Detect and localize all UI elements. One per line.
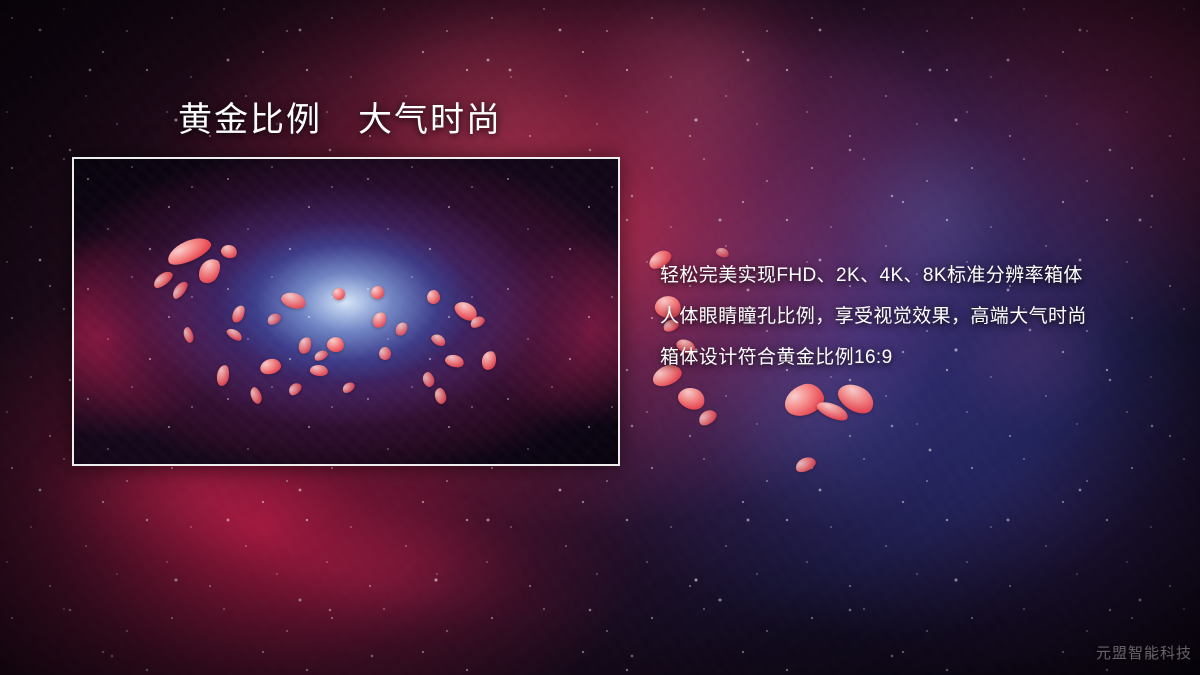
- body-line-2: 人体眼睛瞳孔比例，享受视觉效果，高端大气时尚: [660, 296, 1150, 337]
- petal: [696, 407, 719, 428]
- petal: [780, 380, 827, 421]
- petal: [675, 384, 708, 414]
- petal: [333, 288, 345, 300]
- body-line-3: 箱体设计符合黄金比例16:9: [660, 337, 1150, 378]
- galaxy-petals-image: [74, 159, 618, 464]
- slide-canvas: 黄金比例 大气时尚 轻松完美实现FHD、2K、4K、8K标准分辨率箱体 人体眼睛…: [0, 0, 1200, 675]
- galaxy-starfield: [74, 159, 618, 464]
- petal: [371, 286, 384, 299]
- framed-image: [72, 157, 620, 466]
- body-line-1: 轻松完美实现FHD、2K、4K、8K标准分辨率箱体: [660, 255, 1150, 296]
- body-copy: 轻松完美实现FHD、2K、4K、8K标准分辨率箱体 人体眼睛瞳孔比例，享受视觉效…: [660, 255, 1150, 378]
- brand-watermark: 元盟智能科技: [1096, 642, 1192, 663]
- slide-title: 黄金比例 大气时尚: [178, 99, 502, 141]
- petal: [793, 454, 817, 474]
